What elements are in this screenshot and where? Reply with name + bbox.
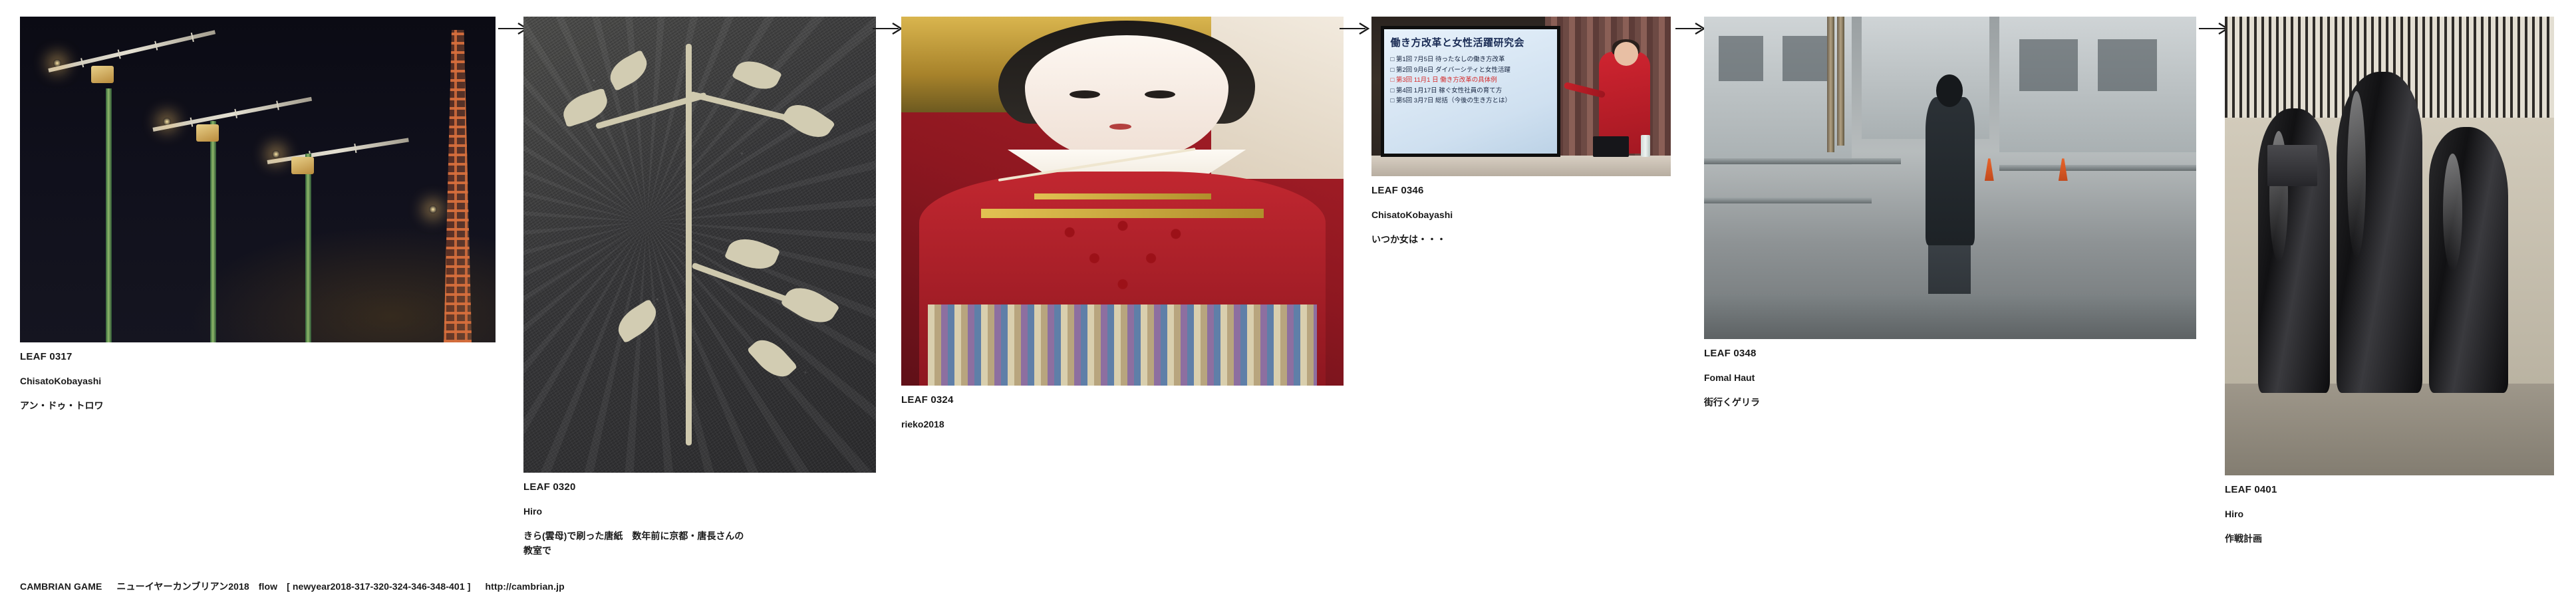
leaf-id: LEAF 0324: [901, 395, 1344, 406]
leaf-shape: [605, 49, 653, 91]
leaf-card-0317[interactable]: LEAF 0317 ChisatoKobayashi アン・ドゥ・トロワ: [20, 17, 496, 414]
crane-mast: [305, 154, 311, 342]
leaf-photo-hina-doll-red-kimono[interactable]: [901, 17, 1344, 386]
leaf-card-0320[interactable]: LEAF 0320 Hiro きら(雲母)で刷った唐紙 数年前に京都・唐長さんの…: [523, 17, 876, 558]
leaf-id: LEAF 0401: [2225, 485, 2554, 496]
gold-sash: [1034, 193, 1211, 199]
laptop: [1593, 136, 1629, 157]
window: [2019, 39, 2078, 91]
footer-title: CAMBRIAN GAME: [20, 581, 102, 592]
cambrian-flow-canvas: LEAF 0317 ChisatoKobayashi アン・ドゥ・トロワ: [0, 0, 2576, 605]
doll-face: [1025, 35, 1228, 161]
footer-credit-line: CAMBRIAN GAME ニューイヤーカンブリアン2018 flow [ ne…: [20, 580, 565, 593]
leaf-author: Hiro: [523, 507, 876, 517]
leaf-caption: きら(雲母)で刷った唐紙 数年前に京都・唐長さんの教室で: [523, 529, 750, 558]
guard-rail: [1704, 197, 1872, 203]
road-surface: [1704, 294, 2196, 339]
slide-agenda-item: □ 第4回 1月17日 稼ぐ女性社員の育て方: [1391, 86, 1550, 96]
leaf-card-0346[interactable]: 働き方改革と女性活躍研究会 □ 第1回 7月5日 待ったなしの働き方改革 □ 第…: [1371, 17, 1671, 247]
window: [1719, 36, 1763, 81]
crane-jib: [48, 31, 215, 73]
leaf-meta-0317: LEAF 0317 ChisatoKobayashi アン・ドゥ・トロワ: [20, 342, 496, 414]
rope-pole: [1837, 17, 1844, 146]
info-plaque: [2267, 145, 2317, 186]
leaf-shape: [612, 299, 662, 343]
slide-title: 働き方改革と女性活躍研究会: [1391, 35, 1550, 49]
leaf-author: rieko2018: [901, 420, 1344, 429]
crane-light: [429, 205, 437, 213]
leaf-photo-night-construction-cranes[interactable]: [20, 17, 496, 342]
leaf-id: LEAF 0317: [20, 352, 496, 363]
leaf-card-0401[interactable]: LEAF 0401 Hiro 作戦計画: [2225, 17, 2554, 546]
crane-jib: [153, 96, 313, 131]
pedestrian-torso: [1926, 97, 1975, 245]
leaf-shape: [781, 96, 835, 145]
doll-mouth: [1109, 124, 1131, 130]
stone-sculpture: [2337, 72, 2422, 393]
crane-light: [272, 150, 280, 158]
stone-sculpture: [2429, 127, 2508, 393]
front-table: [1371, 156, 1671, 176]
kimono-hem-layers: [928, 304, 1317, 386]
window: [1783, 36, 1827, 81]
traffic-cone: [1985, 158, 1994, 181]
leaf-caption: 作戦計画: [2225, 532, 2504, 546]
arrow-4-to-5: [1675, 20, 1707, 37]
crane-cab: [196, 124, 219, 142]
leaf-meta-0401: LEAF 0401 Hiro 作戦計画: [2225, 475, 2554, 546]
slide-agenda-item: □ 第1回 7月5日 待ったなしの働き方改革: [1391, 55, 1550, 64]
crane-jib: [267, 138, 408, 164]
leaf-photo-masked-man-walking-street[interactable]: [1704, 17, 2196, 339]
leaf-card-0348[interactable]: LEAF 0348 Fomal Haut 街行くゲリラ: [1704, 17, 2196, 410]
crane-mast: [210, 121, 216, 342]
leaf-id: LEAF 0320: [523, 482, 876, 493]
window: [2098, 39, 2157, 91]
leaf-caption: いつか女は・・・: [1371, 233, 1651, 247]
leaf-author: ChisatoKobayashi: [20, 376, 496, 386]
leaf-caption: 街行くゲリラ: [1704, 396, 1983, 410]
slide-agenda-list: □ 第1回 7月5日 待ったなしの働き方改革 □ 第2回 9月6日 ダイバーシテ…: [1391, 55, 1550, 106]
projector-screen-frame: 働き方改革と女性活躍研究会 □ 第1回 7月5日 待ったなしの働き方改革 □ 第…: [1381, 26, 1560, 157]
rope-pole: [1827, 17, 1834, 152]
water-bottle: [1641, 135, 1650, 158]
slide-agenda-item-highlighted: □ 第3回 11月1 日 働き方改革の具体例: [1391, 75, 1550, 85]
leaf-shape: [724, 232, 780, 277]
crane-cab: [291, 157, 314, 174]
leaf-caption: アン・ドゥ・トロワ: [20, 399, 446, 414]
crane-cab: [91, 66, 114, 83]
arrow-2-to-3: [872, 20, 904, 37]
stone-step: [2225, 384, 2554, 475]
leaf-photo-black-stone-sculptures[interactable]: [2225, 17, 2554, 475]
slide-agenda-item: □ 第2回 9月6日 ダイバーシティと女性活躍: [1391, 65, 1550, 75]
arrow-right-icon: [872, 21, 904, 36]
leaf-author: ChisatoKobayashi: [1371, 210, 1671, 220]
leaf-photo-mica-printed-karakami-paper[interactable]: [523, 17, 876, 473]
leaf-photo-seminar-presentation-projector[interactable]: 働き方改革と女性活躍研究会 □ 第1回 7月5日 待ったなしの働き方改革 □ 第…: [1371, 17, 1671, 176]
footer-subtitle: ニューイヤーカンブリアン2018: [116, 581, 249, 592]
leaf-shape: [732, 54, 782, 96]
arrow-3-to-4: [1339, 20, 1371, 37]
leaf-shape: [747, 332, 798, 385]
crane-light: [163, 118, 171, 126]
projector-screen: 働き方改革と女性活躍研究会 □ 第1回 7月5日 待ったなしの働き方改革 □ 第…: [1384, 29, 1557, 154]
crane-light: [53, 59, 61, 67]
footer-url[interactable]: http://cambrian.jp: [485, 581, 564, 592]
arrow-right-icon: [1675, 21, 1707, 36]
leaf-card-0324[interactable]: LEAF 0324 rieko2018: [901, 17, 1344, 442]
leaf-meta-0320: LEAF 0320 Hiro きら(雲母)で刷った唐紙 数年前に京都・唐長さんの…: [523, 473, 876, 558]
speaker-head: [1614, 42, 1638, 66]
footer-flow-ids: [ newyear2018-317-320-324-346-348-401 ]: [287, 581, 470, 592]
vine-branch: [690, 91, 788, 121]
lattice-tower: [444, 30, 472, 342]
leaf-shape: [780, 279, 839, 331]
leaf-meta-0324: LEAF 0324 rieko2018: [901, 386, 1344, 429]
vine-stem: [686, 44, 692, 445]
crane-mast: [106, 88, 112, 342]
leaf-meta-0348: LEAF 0348 Fomal Haut 街行くゲリラ: [1704, 339, 2196, 410]
leaf-id: LEAF 0346: [1371, 185, 1671, 197]
arrow-right-icon: [1339, 21, 1371, 36]
guard-rail: [1704, 158, 1901, 164]
leaf-author: Fomal Haut: [1704, 373, 2196, 383]
footer-flow-label: flow: [259, 581, 277, 592]
slide-agenda-item: □ 第5回 3月7日 総括（今後の生き方とは）: [1391, 96, 1550, 106]
pedestrian-masked-head: [1936, 74, 1963, 107]
guard-rail: [1999, 165, 2196, 171]
leaf-author: Hiro: [2225, 509, 2554, 519]
leaf-id: LEAF 0348: [1704, 348, 2196, 360]
bead-decoration: [1034, 216, 1211, 297]
leaf-meta-0346: LEAF 0346 ChisatoKobayashi いつか女は・・・: [1371, 176, 1671, 247]
